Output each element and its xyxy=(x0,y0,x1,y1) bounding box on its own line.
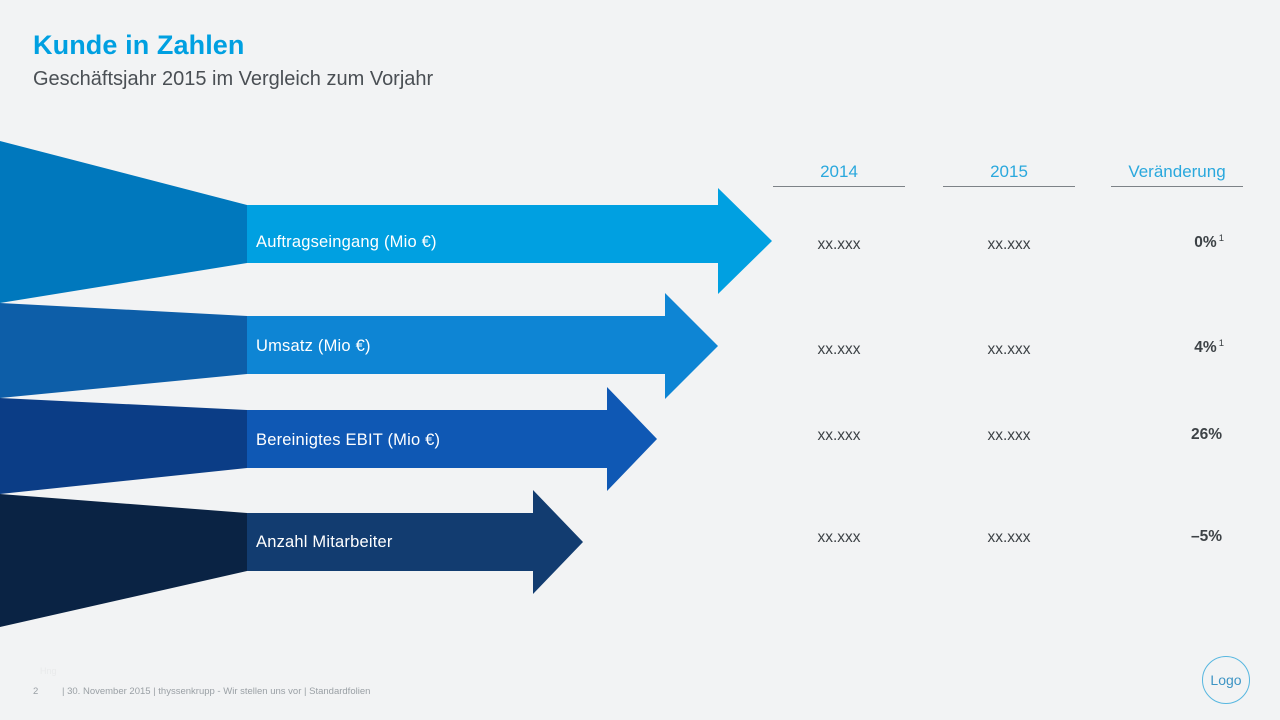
cell-2015-row4: xx.xxx xyxy=(943,529,1075,547)
cell-2014-row4: xx.xxx xyxy=(773,529,905,547)
cell-2014-row3: xx.xxx xyxy=(773,427,905,445)
change-value-row1: 0% xyxy=(1194,234,1216,251)
logo-placeholder: Logo xyxy=(1202,656,1250,704)
change-value-row4: –5% xyxy=(1191,528,1222,545)
cell-change-row3: 26% xyxy=(1091,425,1224,444)
cell-change-row2: 4%1 xyxy=(1091,338,1224,357)
cell-2014-row2: xx.xxx xyxy=(773,341,905,359)
arrow-tail-1 xyxy=(0,141,247,303)
cell-2015-row1: xx.xxx xyxy=(943,236,1075,254)
cell-2014-row1: xx.xxx xyxy=(773,236,905,254)
column-header-2015: 2015 xyxy=(943,162,1075,182)
cell-2015-row2: xx.xxx xyxy=(943,341,1075,359)
footnote-marker-row1: 1 xyxy=(1219,233,1224,244)
arrow-tail-4 xyxy=(0,494,247,627)
arrow-label-4: Anzahl Mitarbeiter xyxy=(256,533,393,552)
cell-change-row1: 0%1 xyxy=(1091,233,1224,252)
column-rule-2015 xyxy=(943,186,1075,187)
footer-ghost-text: Hng xyxy=(40,666,57,676)
footnote-marker-row2: 1 xyxy=(1219,338,1224,349)
column-header-veraenderung: Veränderung xyxy=(1111,162,1243,182)
change-value-row3: 26% xyxy=(1191,426,1222,443)
slide: Kunde in Zahlen Geschäftsjahr 2015 im Ve… xyxy=(0,0,1280,720)
slide-number: 2 xyxy=(33,686,38,697)
column-rule-2014 xyxy=(773,186,905,187)
cell-change-row4: –5% xyxy=(1091,527,1224,546)
cell-2015-row3: xx.xxx xyxy=(943,427,1075,445)
column-header-2014: 2014 xyxy=(773,162,905,182)
change-value-row2: 4% xyxy=(1194,339,1216,356)
arrow-label-2: Umsatz (Mio €) xyxy=(256,337,371,356)
footer-text: | 30. November 2015 | thyssenkrupp - Wir… xyxy=(62,686,370,697)
arrow-label-1: Auftragseingang (Mio €) xyxy=(256,233,437,252)
arrow-tail-3 xyxy=(0,398,247,494)
column-rule-veraenderung xyxy=(1111,186,1243,187)
arrow-chart xyxy=(0,0,1280,720)
logo-label: Logo xyxy=(1210,672,1241,688)
arrow-label-3: Bereinigtes EBIT (Mio €) xyxy=(256,431,440,450)
arrow-tail-2 xyxy=(0,303,247,398)
